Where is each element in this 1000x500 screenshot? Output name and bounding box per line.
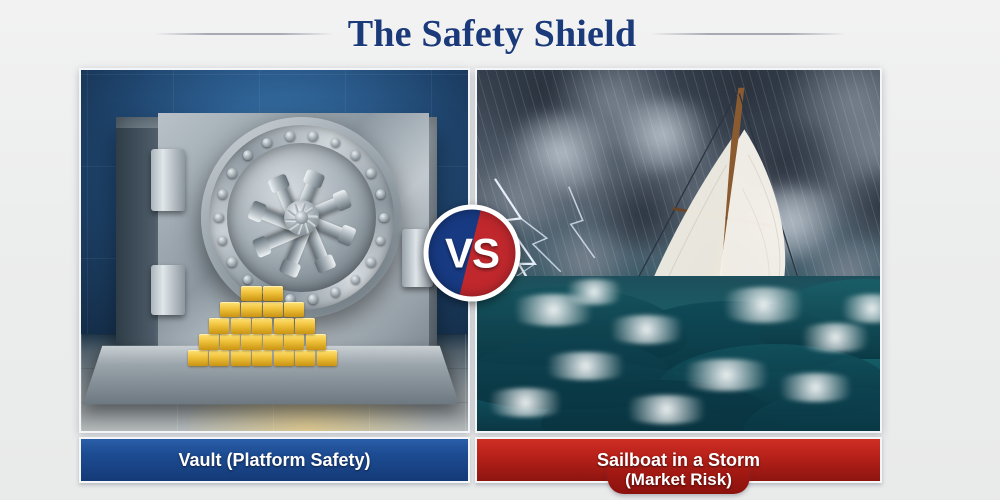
gold-bar (209, 318, 229, 334)
vault-bolt (227, 168, 237, 178)
gold-bar (188, 350, 208, 366)
caption-sailboat[interactable]: Sailboat in a Storm (Market Risk) (475, 437, 882, 483)
gold-bar (263, 286, 283, 302)
gold-bar (284, 302, 304, 318)
sea-foam (477, 388, 574, 417)
sea-foam (791, 323, 880, 352)
gold-bar (274, 350, 294, 366)
gold-bar (209, 350, 229, 366)
vault-scene (81, 70, 468, 431)
vault-bolt (285, 131, 295, 141)
gold-bar (199, 334, 219, 350)
sea-foam (558, 279, 631, 304)
gold-bar-stack (182, 283, 345, 366)
vault-door-inner (227, 143, 376, 292)
vault-bolt (351, 275, 361, 285)
sea-foam (614, 395, 719, 424)
panel-vault-image[interactable] (79, 68, 470, 433)
gold-bar (241, 334, 261, 350)
vault-bolt (218, 189, 228, 199)
vault-bolt (218, 236, 228, 246)
vs-badge-label: VS (445, 232, 499, 274)
vault-bolt (243, 150, 253, 160)
gold-bar (284, 334, 304, 350)
gold-bar (306, 334, 326, 350)
vault-hub (284, 200, 320, 236)
page-title: The Safety Shield (348, 15, 636, 53)
gold-bar (252, 350, 272, 366)
slide-canvas: The Safety Shield (0, 0, 1000, 500)
sea-foam (711, 287, 816, 323)
gold-bar (295, 318, 315, 334)
gold-bar (263, 334, 283, 350)
vault-bolt (366, 257, 376, 267)
caption-vault[interactable]: Vault (Platform Safety) (79, 437, 470, 483)
caption-sailboat-subtitle-wrap: (Market Risk) (607, 468, 750, 494)
gold-bar (252, 318, 272, 334)
vault-bolt (331, 138, 341, 148)
vault-hinge-upper (151, 149, 186, 210)
vs-badge: VS (424, 205, 521, 302)
gold-bar (263, 302, 283, 318)
gold-bar (231, 350, 251, 366)
gold-bar (274, 318, 294, 334)
vault-hinge-lower (151, 265, 186, 316)
vault-bolt (214, 213, 224, 223)
page-title-row: The Safety Shield (0, 0, 1000, 68)
vault-bolt (366, 168, 376, 178)
gold-bar (317, 350, 337, 366)
caption-sailboat-subtitle: (Market Risk) (625, 470, 732, 489)
vault-bolt (308, 131, 318, 141)
gold-bar (231, 318, 251, 334)
vault-bolt (376, 236, 386, 246)
gold-bar (295, 350, 315, 366)
vault-bolt (376, 189, 386, 199)
sea-foam (767, 373, 864, 402)
gold-bar (220, 302, 240, 318)
gold-bar (241, 302, 261, 318)
panel-storm-image[interactable] (475, 68, 882, 433)
gold-bar (220, 334, 240, 350)
title-rule-right (650, 33, 846, 35)
caption-bars: Vault (Platform Safety) Sailboat in a St… (79, 437, 882, 483)
title-rule-left (154, 33, 334, 35)
vault-bolt (263, 138, 273, 148)
vault-bolt (379, 213, 389, 223)
storm-scene (477, 70, 880, 431)
caption-vault-label: Vault (Platform Safety) (178, 450, 370, 471)
gold-bar (241, 286, 261, 302)
vault-bolt (227, 257, 237, 267)
vault-bolt (351, 150, 361, 160)
